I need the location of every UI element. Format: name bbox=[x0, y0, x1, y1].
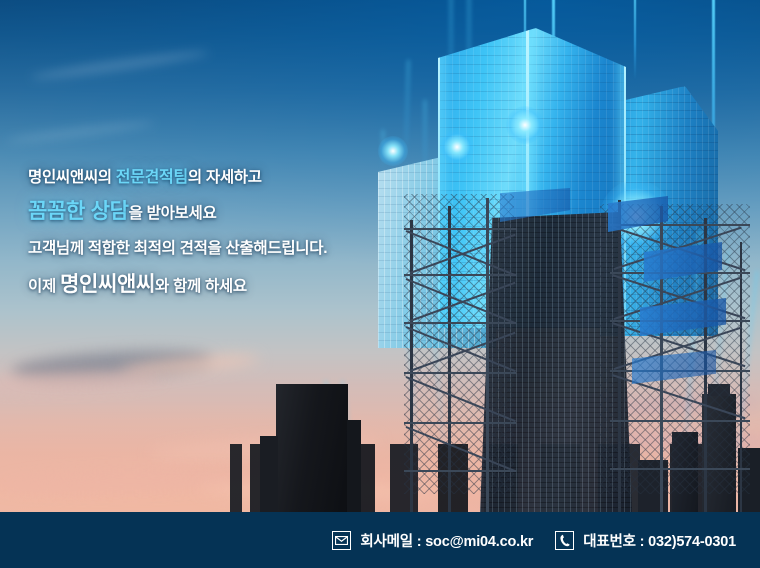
contact-footer-bar: 회사메일 : soc@mi04.co.kr 대표번호 : 032)574-030… bbox=[0, 512, 760, 568]
promo-banner: 명인씨앤씨의 전문견적팀의 자세하고 꼼꼼한 상담을 받아보세요 고객님께 적합… bbox=[0, 0, 760, 568]
glass-panel bbox=[632, 350, 716, 384]
copy-line-2-highlight: 꼼꼼한 상담 bbox=[28, 200, 129, 223]
scaffold-rail bbox=[404, 372, 516, 374]
building-silhouette-right bbox=[702, 394, 736, 512]
scaffold-rail bbox=[610, 370, 750, 372]
copy-line-2-post: 을 받아보세요 bbox=[129, 205, 217, 222]
copy-line-1-pre: 명인씨앤씨의 bbox=[28, 169, 116, 186]
building-silhouette-right bbox=[738, 448, 760, 512]
copy-line-2: 꼼꼼한 상담을 받아보세요 bbox=[28, 201, 448, 223]
copy-line-3-text: 고객님께 적합한 최적의 견적을 산출해드립니다. bbox=[28, 240, 327, 257]
copy-line-1-post: 의 자세하고 bbox=[188, 169, 262, 186]
copy-line-4-pre: 이제 bbox=[28, 278, 60, 295]
scaffold-rail bbox=[404, 422, 516, 424]
building-silhouette-right bbox=[638, 460, 668, 512]
copy-line-3: 고객님께 적합한 최적의 견적을 산출해드립니다. bbox=[28, 241, 448, 258]
copy-line-4: 이제 명인씨앤씨와 함께 하세요 bbox=[28, 274, 448, 296]
copy-line-4-post: 와 함께 하세요 bbox=[155, 278, 247, 295]
copy-line-4-emphasis: 명인씨앤씨 bbox=[60, 273, 155, 296]
building-silhouette-tall bbox=[276, 384, 348, 512]
marketing-copy: 명인씨앤씨의 전문견적팀의 자세하고 꼼꼼한 상담을 받아보세요 고객님께 적합… bbox=[28, 170, 448, 296]
phone-icon bbox=[555, 531, 574, 550]
scaffold-brace bbox=[406, 376, 516, 422]
light-beam bbox=[405, 60, 410, 170]
envelope-icon bbox=[332, 531, 351, 550]
copy-line-1: 명인씨앤씨의 전문견적팀의 자세하고 bbox=[28, 170, 448, 187]
building-silhouette-right bbox=[672, 432, 698, 512]
light-beam bbox=[382, 130, 384, 170]
copy-line-1-highlight: 전문견적팀 bbox=[116, 169, 188, 186]
email-label: 회사메일 : soc@mi04.co.kr bbox=[360, 530, 533, 551]
phone-label: 대표번호 : 032)574-0301 bbox=[583, 530, 736, 551]
email-contact[interactable]: 회사메일 : soc@mi04.co.kr bbox=[332, 530, 533, 551]
building-main-skyscraper bbox=[438, 28, 626, 328]
phone-contact[interactable]: 대표번호 : 032)574-0301 bbox=[555, 530, 736, 551]
light-beam bbox=[634, 0, 636, 80]
